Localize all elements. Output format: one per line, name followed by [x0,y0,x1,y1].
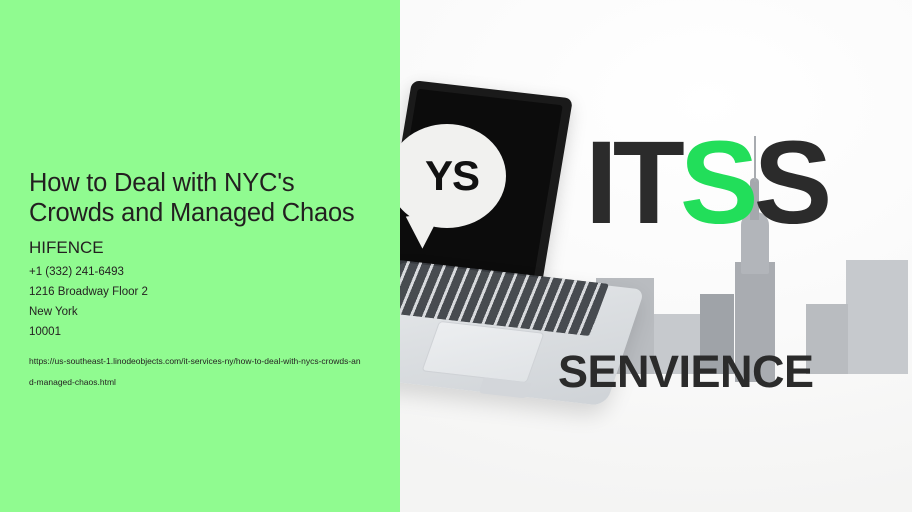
brand-name: HIFENCE [29,237,381,258]
hero-wordmark-part-3: S [754,117,828,249]
article-url[interactable]: https://us-southeast-1.linodeobjects.com… [29,351,363,393]
contact-zip: 10001 [29,322,381,342]
page-root: How to Deal with NYC's Crowds and Manage… [0,0,912,512]
page-title: How to Deal with NYC's Crowds and Manage… [29,168,379,228]
hero-wordmark-part-2: S [680,117,754,249]
contact-phone[interactable]: +1 (332) 241-6493 [29,262,381,282]
left-content-block: How to Deal with NYC's Crowds and Manage… [29,168,381,393]
hero-subtitle: SENVIENCE [558,349,814,394]
hero-wordmark-part-1: IT [585,117,680,249]
contact-street-address: 1216 Broadway Floor 2 [29,282,381,302]
contact-city: New York [29,302,381,322]
skyline-building [846,260,908,374]
hero-image-panel: YS ITSS SENVIENCE [400,0,912,512]
left-info-panel: How to Deal with NYC's Crowds and Manage… [0,0,400,512]
hero-wordmark: ITSS [585,124,827,242]
speech-bubble-text: YS [425,152,479,200]
